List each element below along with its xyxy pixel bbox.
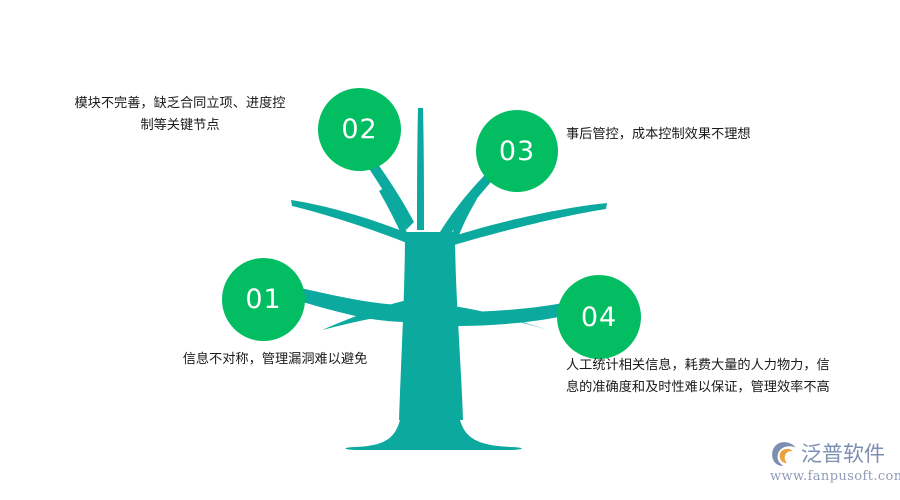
brand-logo: 泛普软件 www.fanpusoft.com [770,440,894,492]
node-number-02: 02 [341,114,377,145]
tree-illustration [0,0,900,500]
node-label-03: 事后管控，成本控制效果不理想 [566,124,866,146]
node-label-02: 模块不完善，缺乏合同立项、进度控 制等关键节点 [40,93,320,137]
branch-center-up [417,108,424,230]
node-number-04: 04 [581,302,617,333]
logo-row: 泛普软件 [770,440,894,468]
node-number-03: 03 [499,136,535,167]
node-circle-03[interactable]: 03 [476,110,558,192]
fanpu-logo-icon [770,440,798,468]
logo-url-text: www.fanpusoft.com [770,469,894,484]
node-circle-04[interactable]: 04 [557,275,641,359]
node-circle-02[interactable]: 02 [318,88,401,171]
node-label-04: 人工统计相关信息，耗费大量的人力物力，信 息的准确度和及时性难以保证，管理效率不… [566,355,886,399]
node-number-01: 01 [245,284,281,315]
tree-trunk [399,232,463,420]
infographic-canvas: 01 02 03 04 信息不对称，管理漏洞难以避免 模块不完善，缺乏合同立项、… [0,0,900,500]
logo-brand-text: 泛普软件 [801,440,885,468]
node-circle-01[interactable]: 01 [222,258,305,341]
node-label-01: 信息不对称，管理漏洞难以避免 [150,349,400,371]
